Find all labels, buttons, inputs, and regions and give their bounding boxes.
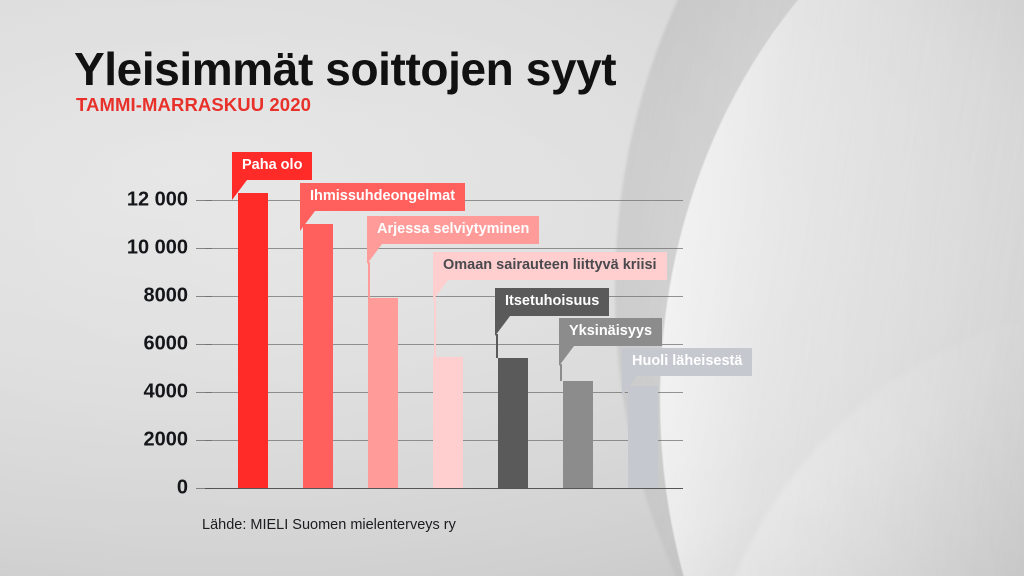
gridline-0 bbox=[205, 488, 683, 489]
y-axis-tick-label: 0 bbox=[177, 477, 188, 500]
gridline-10000 bbox=[205, 248, 683, 249]
y-axis-tick-label: 10 000 bbox=[127, 237, 188, 260]
bar-callout-label-0[interactable]: Paha olo bbox=[232, 152, 312, 180]
callout-tail-icon bbox=[433, 280, 448, 300]
bar-5[interactable] bbox=[563, 381, 593, 488]
bar-3[interactable] bbox=[433, 357, 463, 488]
callout-leader-line-5 bbox=[560, 364, 562, 381]
bar-callout-label-5[interactable]: Yksinäisyys bbox=[559, 318, 662, 346]
callout-leader-line-3 bbox=[434, 298, 436, 357]
y-axis-tick-label: 2000 bbox=[144, 429, 189, 452]
bar-callout-label-3[interactable]: Omaan sairauteen liittyvä kriisi bbox=[433, 252, 667, 280]
callout-tail-icon bbox=[232, 180, 247, 200]
bar-callout-label-1[interactable]: Ihmissuhdeongelmat bbox=[300, 183, 465, 211]
bar-callout-label-2[interactable]: Arjessa selviytyminen bbox=[367, 216, 539, 244]
page-title: Yleisimmät soittojen syyt bbox=[74, 42, 616, 96]
bar-1[interactable] bbox=[303, 224, 333, 488]
bar-callout-label-6[interactable]: Huoli läheisestä bbox=[622, 348, 752, 376]
bar-0[interactable] bbox=[238, 193, 268, 488]
y-axis: 12 00010 00080006000400020000 bbox=[126, 200, 188, 488]
page-subtitle: TAMMI-MARRASKUU 2020 bbox=[76, 94, 311, 116]
bar-6[interactable] bbox=[628, 386, 658, 488]
callout-tail-icon bbox=[495, 316, 510, 336]
bar-callout-label-4[interactable]: Itsetuhoisuus bbox=[495, 288, 609, 316]
callout-tail-icon bbox=[300, 211, 315, 231]
y-axis-tick-label: 8000 bbox=[144, 285, 189, 308]
source-note: Lähde: MIELI Suomen mielenterveys ry bbox=[202, 517, 456, 533]
bar-2[interactable] bbox=[368, 298, 398, 488]
callout-tail-icon bbox=[559, 346, 574, 366]
callout-leader-line-2 bbox=[368, 262, 370, 298]
callout-tail-icon bbox=[367, 244, 382, 264]
y-axis-tick-label: 12 000 bbox=[127, 189, 188, 212]
callout-leader-line-4 bbox=[496, 334, 498, 358]
infographic-canvas: Yleisimmät soittojen syyt TAMMI-MARRASKU… bbox=[0, 0, 1024, 576]
bar-4[interactable] bbox=[498, 358, 528, 488]
callout-tail-icon bbox=[622, 376, 637, 396]
y-axis-tick-label: 6000 bbox=[144, 333, 189, 356]
y-axis-tick-label: 4000 bbox=[144, 381, 189, 404]
